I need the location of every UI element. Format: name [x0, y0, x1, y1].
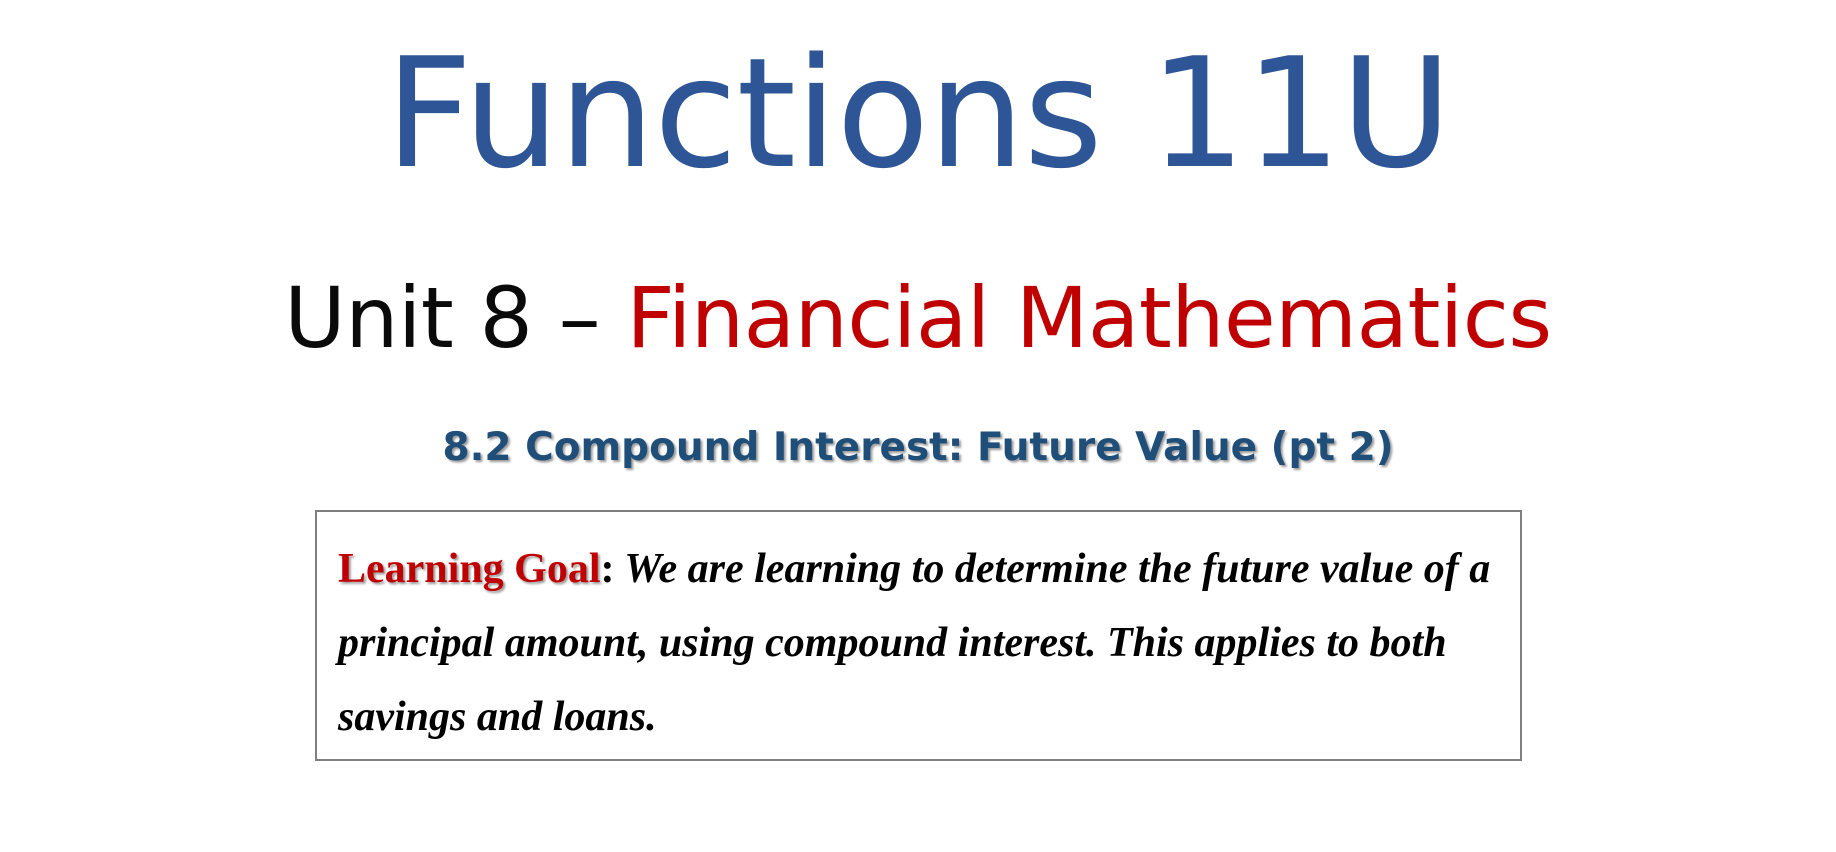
unit-dash: – — [559, 269, 627, 367]
learning-goal-colon: : — [601, 546, 615, 592]
learning-goal-label: Learning Goal — [338, 546, 601, 592]
slide-canvas: Functions 11U Unit 8 – Financial Mathema… — [0, 0, 1836, 852]
learning-goal-box: Learning Goal: We are learning to determ… — [315, 510, 1522, 761]
section-heading: 8.2 Compound Interest: Future Value (pt … — [0, 428, 1836, 467]
unit-subtitle: Unit 8 – Financial Mathematics — [0, 276, 1836, 360]
unit-topic: Financial Mathematics — [626, 269, 1551, 367]
page-title: Functions 11U — [0, 38, 1836, 190]
unit-label: Unit 8 — [284, 269, 558, 367]
learning-goal-text: Learning Goal: We are learning to determ… — [338, 532, 1504, 754]
